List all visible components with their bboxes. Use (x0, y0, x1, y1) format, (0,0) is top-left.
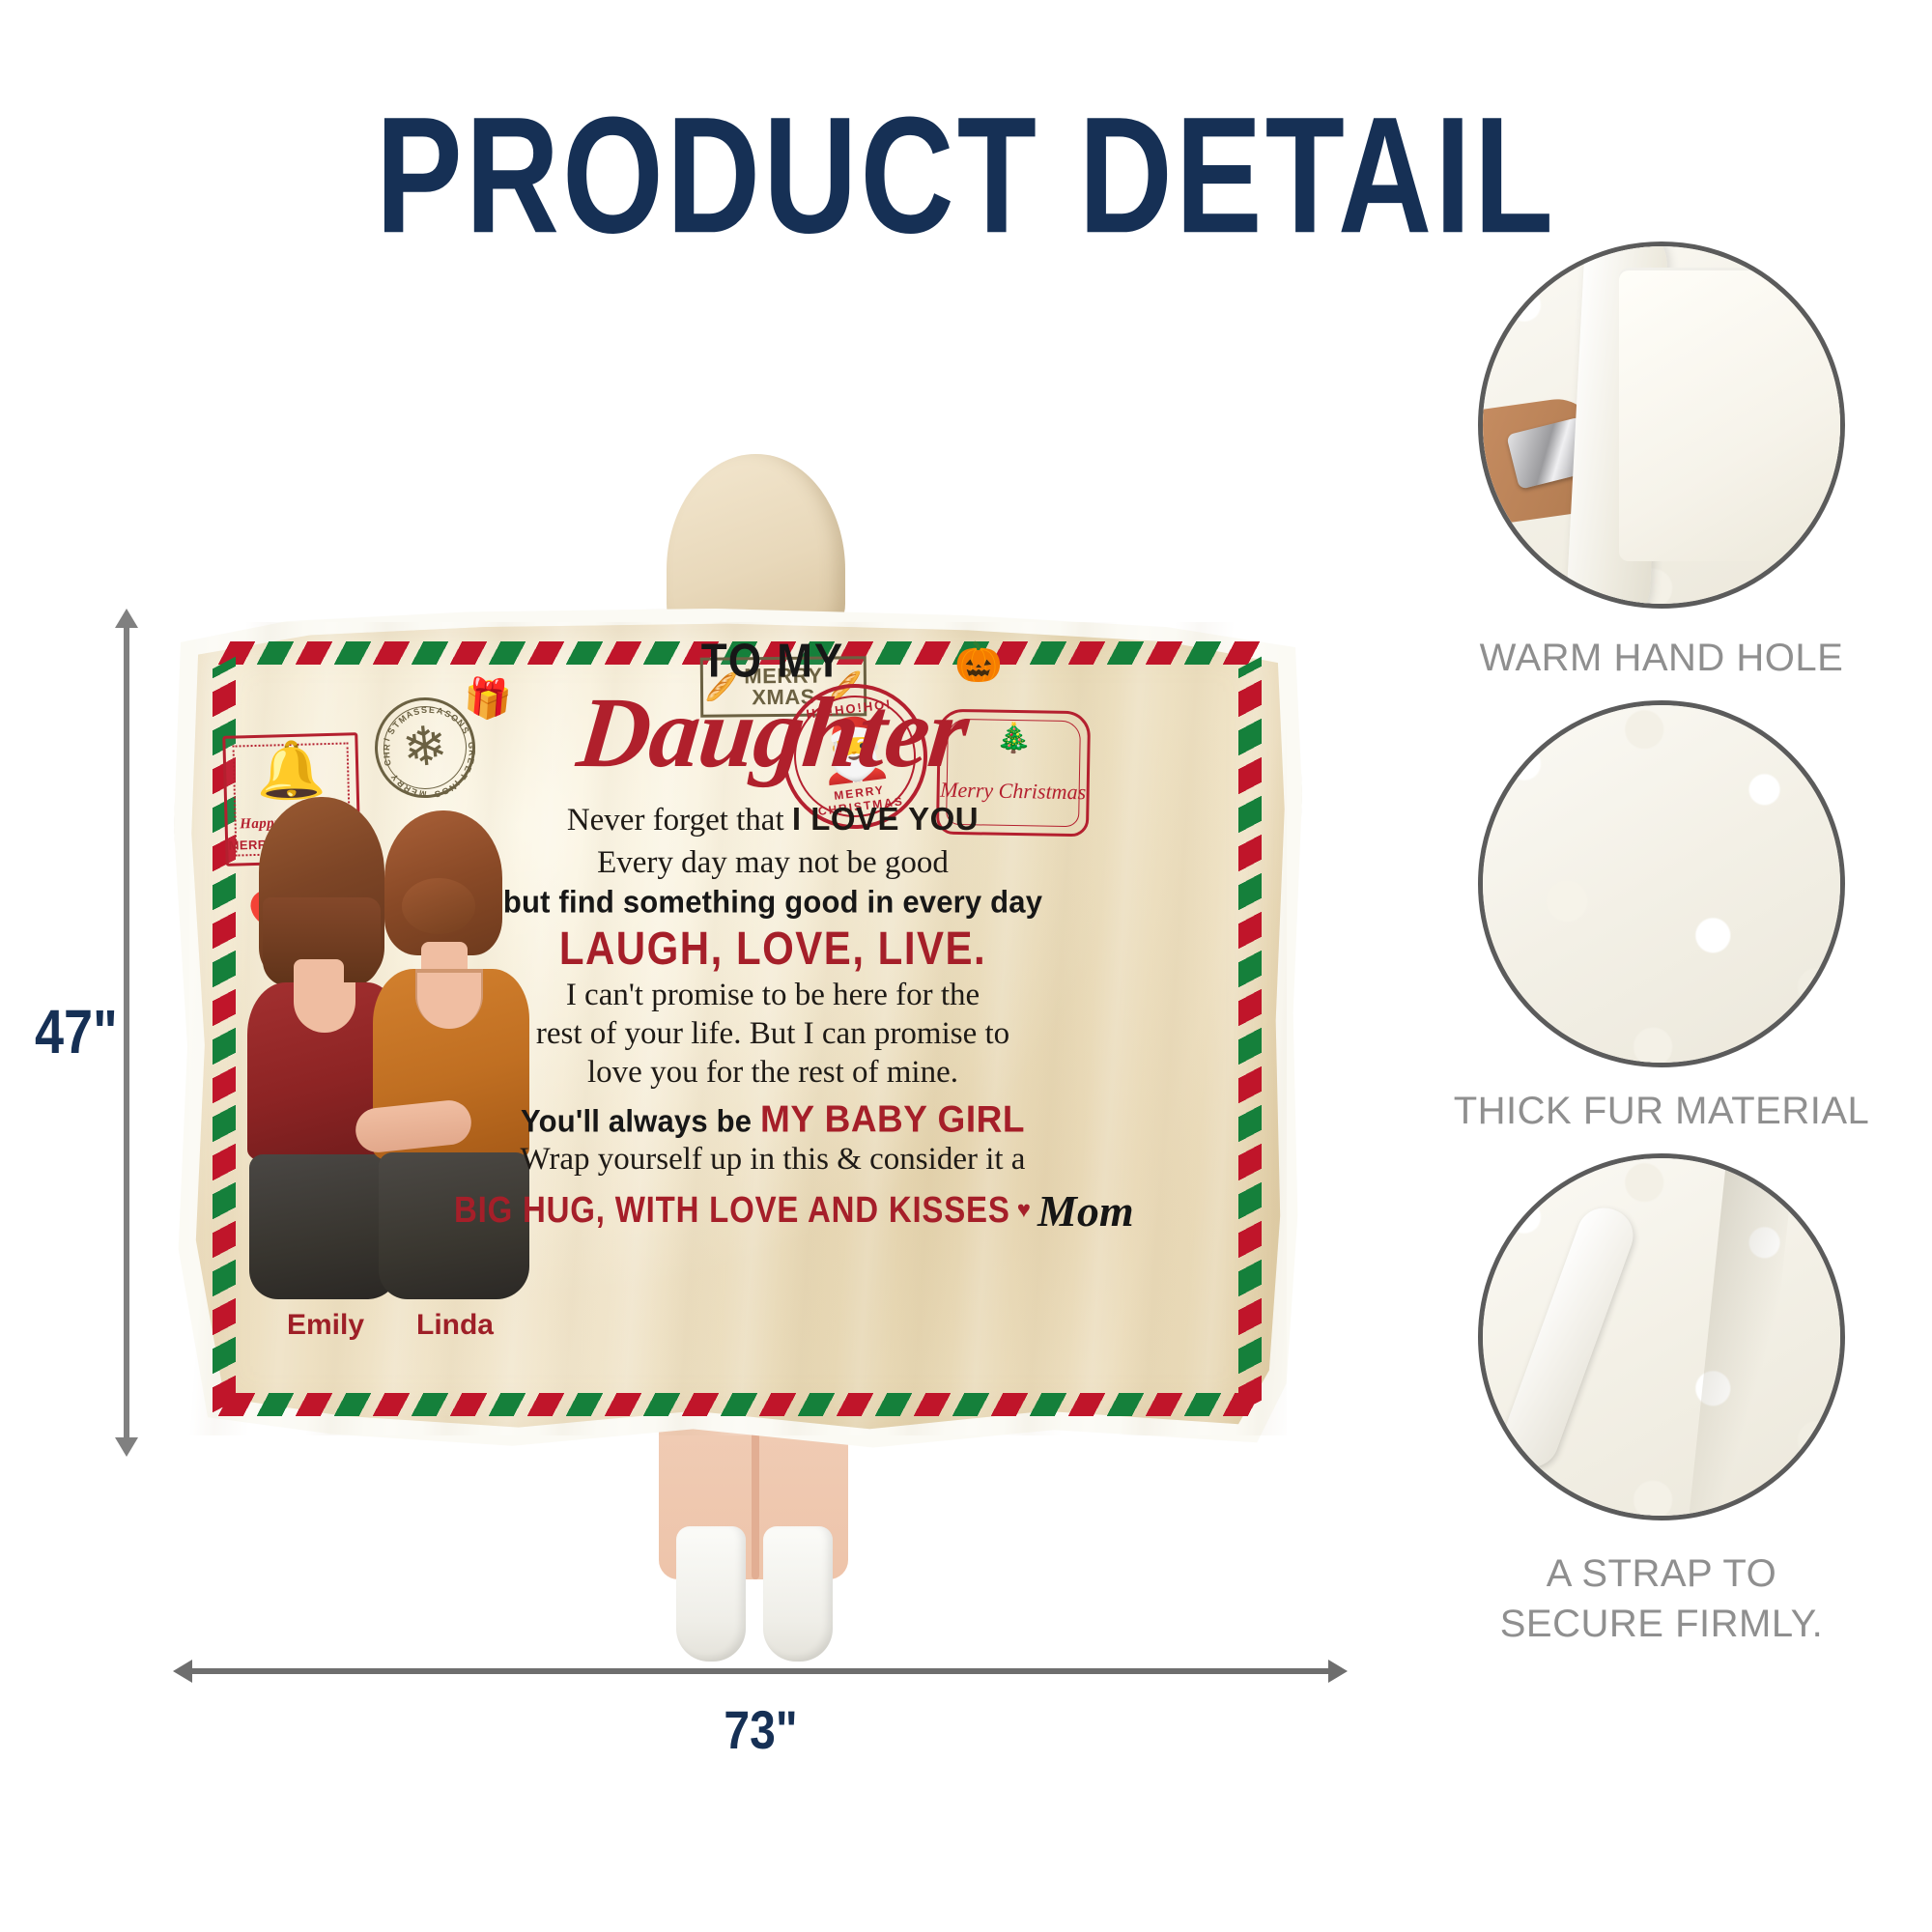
hand-hole-panel (1619, 268, 1845, 560)
photo-strap (1478, 1153, 1845, 1520)
letter-line-8-plain: You'll always be (521, 1103, 760, 1139)
letter-line-1-plain: Never forget that (567, 803, 792, 838)
person-left-pants (249, 1154, 400, 1299)
letter-line-5: I can't promise to be here for the (454, 976, 1092, 1014)
detail-label-strap-line2: SECURE FIRMLY. (1500, 1603, 1823, 1645)
letter-line-3: but find something good in every day (454, 883, 1092, 920)
letter-line-4: LAUGH, LOVE, LIVE. (454, 922, 1092, 975)
photo-thick-fur-material (1478, 700, 1845, 1067)
detail-label-thick-fur: THICK FUR MATERIAL (1391, 1087, 1932, 1136)
detail-label-warm-hand-hole: WARM HAND HOLE (1391, 634, 1932, 683)
letter-signature: Mom (1037, 1186, 1134, 1236)
airmail-border-bottom (218, 1393, 1264, 1416)
letter-line-8: You'll always be MY BABY GIRL (454, 1098, 1092, 1142)
arrowhead-right-icon (1328, 1660, 1348, 1683)
heart-icon: ♥ (1017, 1197, 1031, 1223)
detail-item-strap: A STRAP TO SECURE FIRMLY. (1391, 1153, 1932, 1648)
blanket-letter-text: TO MY Daughter Never forget that I LOVE … (454, 638, 1092, 1236)
product-figure: 47" 73" 🔔 Happy New Year MERRY CHRISTMAS (0, 0, 1121, 1932)
letter-final-row: BIG HUG, WITH LOVE AND KISSES♥Mom (454, 1185, 1092, 1236)
letter-line-9: Wrap yourself up in this & consider it a (454, 1140, 1092, 1179)
bells-icon: 🔔 (225, 741, 355, 800)
person-left-hair (259, 797, 384, 980)
airmail-border-right (1238, 657, 1262, 1413)
letter-line-10: BIG HUG, WITH LOVE AND KISSES (454, 1187, 1010, 1230)
letter-line-7: love you for the rest of mine. (454, 1053, 1092, 1092)
photo-warm-hand-hole (1478, 241, 1845, 609)
sherpa-texture-closeup (1478, 700, 1845, 1067)
letter-line-8-red: MY BABY GIRL (760, 1098, 1025, 1140)
letter-heading-script: Daughter (448, 682, 1096, 784)
person-left-vneck (294, 982, 355, 1033)
hooded-blanket: 🔔 Happy New Year MERRY CHRISTMAS ❄ SEASO… (174, 609, 1302, 1451)
letter-line-6: rest of your life. But I can promise to (454, 1014, 1092, 1053)
detail-label-strap-line1: A STRAP TO (1547, 1552, 1776, 1595)
detail-callout-column: WARM HAND HOLE THICK FUR MATERIAL A STRA… (1391, 241, 1932, 1666)
model-sock-right (763, 1526, 833, 1662)
detail-label-strap: A STRAP TO SECURE FIRMLY. (1391, 1549, 1932, 1648)
detail-item-warm-hand-hole: WARM HAND HOLE (1391, 241, 1932, 683)
detail-item-thick-fur: THICK FUR MATERIAL (1391, 700, 1932, 1136)
letter-line-2: Every day may not be good (454, 841, 1092, 884)
person-right-name: Linda (373, 1309, 537, 1342)
letter-line-1: Never forget that I LOVE YOU (454, 798, 1092, 841)
model-sock-left (676, 1526, 746, 1662)
letter-line-1-bold: I LOVE YOU (792, 801, 979, 837)
